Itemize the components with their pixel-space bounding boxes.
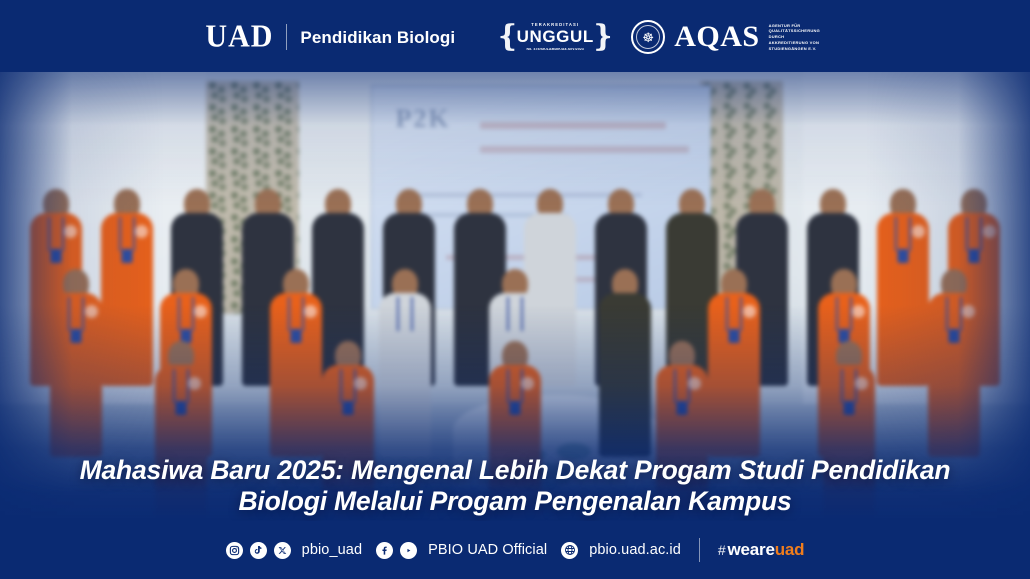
website-url: pbio.uad.ac.id — [589, 542, 681, 558]
hashtag-uad: uad — [775, 540, 805, 560]
facebook-page-name: PBIO UAD Official — [428, 542, 547, 558]
instagram-handle: pbio_uad — [302, 542, 362, 558]
hashtag-weareuad: # weare uad — [718, 540, 804, 560]
title-line-2: Progam Pengenalan Kampus — [430, 486, 792, 516]
social-group-instagram: pbio_uad — [226, 542, 362, 559]
group-photo: P2K — [0, 72, 1030, 520]
program-name: Pendidikan Biologi — [300, 29, 455, 46]
facebook-icon[interactable] — [376, 542, 393, 559]
banner-title: Mahasiwa Baru 2025: Mengenal Lebih Dekat… — [0, 455, 1030, 517]
room-background: P2K — [0, 72, 1030, 520]
unggul-decree-number: No. 475/SK/LAMDIK/Ak.S/IV/2023 — [512, 48, 598, 51]
unggul-accreditation-badge: ❴ ❵ TERAKREDITASI UNGGUL No. 475/SK/LAMD… — [495, 13, 615, 61]
tiktok-icon[interactable] — [250, 542, 267, 559]
aqas-seal-glyph: ☸ — [642, 31, 654, 44]
unggul-grade: UNGGUL — [512, 28, 598, 46]
screen-line — [480, 122, 666, 129]
aqas-seal-icon: ☸ — [631, 20, 665, 54]
instagram-icon[interactable] — [226, 542, 243, 559]
social-group-facebook: PBIO UAD Official — [376, 542, 547, 559]
banner-header: UAD Pendidikan Biologi ❴ ❵ TERAKREDITASI… — [0, 0, 1030, 74]
accreditation-logos: ❴ ❵ TERAKREDITASI UNGGUL No. 475/SK/LAMD… — [495, 13, 824, 61]
youtube-icon[interactable] — [400, 542, 417, 559]
projector-screen-title: P2K — [395, 104, 450, 134]
hash-symbol: # — [718, 542, 726, 558]
footer-divider — [699, 538, 700, 562]
aqas-wordmark: AQAS — [674, 22, 759, 52]
laurel-left-icon: ❴ — [495, 22, 520, 52]
x-twitter-icon[interactable] — [274, 542, 291, 559]
hashtag-weare: weare — [728, 540, 775, 560]
banner-footer: pbio_uad PBIO UAD Official — [0, 521, 1030, 579]
aqas-tagline: AGENTUR FÜR QUALITÄTSSICHERUNG DURCH AKK… — [769, 23, 825, 52]
laurel-right-icon: ❵ — [590, 22, 615, 52]
screen-line — [480, 146, 689, 153]
uad-brand-lockup: UAD Pendidikan Biologi — [205, 22, 455, 52]
brand-divider — [286, 24, 287, 50]
group-photo-image: P2K — [0, 72, 1030, 520]
uad-logo-text: UAD — [205, 21, 273, 53]
aqas-accreditation-logo: ☸ AQAS AGENTUR FÜR QUALITÄTSSICHERUNG DU… — [631, 20, 824, 54]
globe-icon[interactable] — [561, 542, 578, 559]
promo-banner: UAD Pendidikan Biologi ❴ ❵ TERAKREDITASI… — [0, 0, 1030, 579]
social-group-website: pbio.uad.ac.id — [561, 542, 681, 559]
